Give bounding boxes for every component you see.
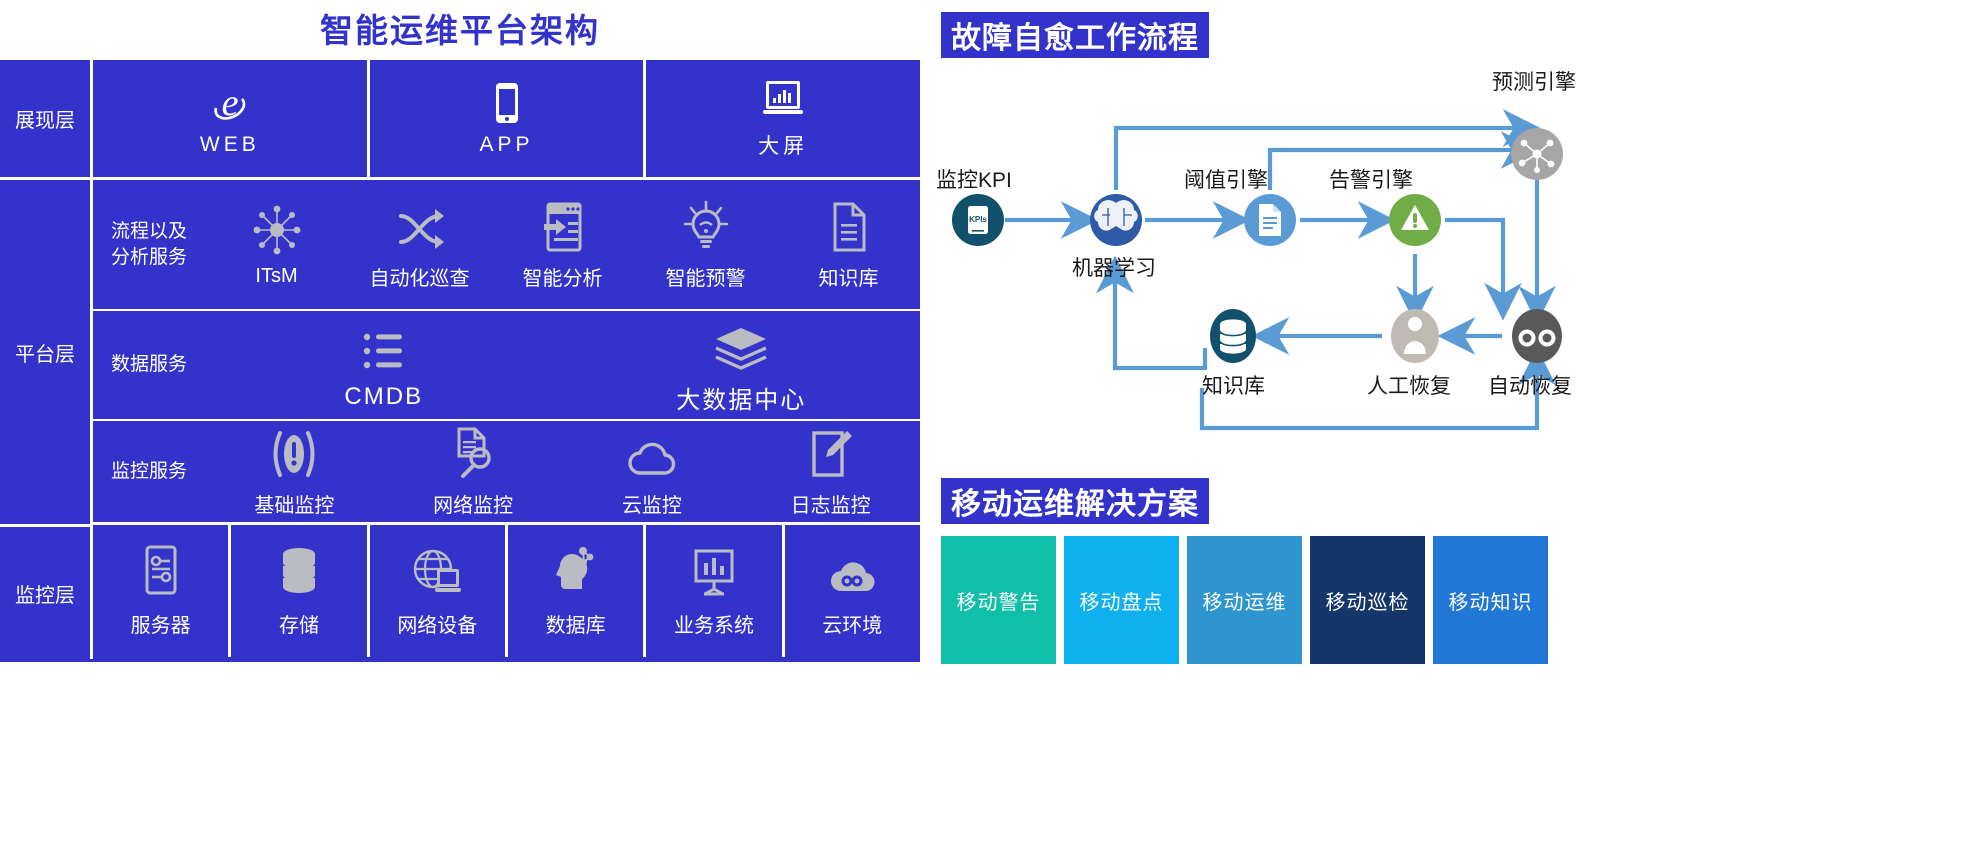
item-smart-analysis[interactable]: 智能分析 [491, 198, 634, 291]
poster-root: 智能运维平台架构 展现层 平台层 监控层 e WEB APP [0, 0, 1962, 845]
document-search-icon [449, 425, 497, 479]
item-auto-inspection[interactable]: 自动化巡查 [348, 198, 491, 291]
item-basic-monitor[interactable]: 基础监控 [205, 425, 384, 518]
brain-icon [1090, 194, 1142, 246]
bar-chart-board-icon [691, 545, 737, 597]
item-cloud-monitor[interactable]: 云监控 [563, 425, 742, 518]
item-knowledge-base[interactable]: 知识库 [777, 198, 920, 291]
shuffle-arrows-icon [395, 198, 445, 252]
data-service-items: CMDB 大数据中心 [205, 311, 920, 419]
monitor-layer-cell-network-device[interactable]: 网络设备 [370, 525, 508, 657]
mobile-tile-inventory[interactable]: 移动盘点 [1064, 536, 1179, 664]
layer-name-column: 展现层 平台层 监控层 [0, 60, 93, 662]
item-itsm[interactable]: ITsM [205, 201, 348, 288]
dashboard-screen-icon [760, 78, 806, 122]
flow-label-predict: 预测引擎 [1492, 66, 1576, 96]
item-label-basic-monitor: 基础监控 [254, 489, 334, 518]
knowledge-database-icon [1210, 309, 1256, 363]
data-service-row: 数据服务 CMDB 大数据中心 [93, 311, 920, 421]
mobile-title-banner: 移动运维解决方案 [941, 478, 1209, 524]
monitor-layer-cell-database[interactable]: 数据库 [508, 525, 646, 657]
monitor-layer-label-network-device: 网络设备 [397, 609, 477, 638]
list-icon [360, 319, 408, 373]
mobile-tile-label-inspection: 移动巡检 [1326, 586, 1410, 615]
presentation-row: e WEB APP 大屏 [93, 60, 920, 180]
layer-label-monitoring: 监控层 [0, 527, 93, 659]
layer-content-column: e WEB APP 大屏 [93, 60, 920, 662]
presentation-label-app: APP [479, 133, 533, 157]
process-analysis-row-label: 流程以及 分析服务 [93, 180, 205, 309]
process-analysis-items: ITsM 自动化巡查 智能分析 [205, 180, 920, 309]
item-smart-alert[interactable]: 智能预警 [634, 198, 777, 291]
monitor-service-row: 监控服务 基础监控 网络监控 [93, 421, 920, 525]
flow-label-kpi: 监控KPI [936, 164, 1012, 194]
architecture-table: 展现层 平台层 监控层 e WEB APP [0, 60, 920, 662]
presentation-label-bigscreen: 大屏 [758, 130, 808, 160]
item-cmdb[interactable]: CMDB [205, 319, 563, 411]
layer-label-presentation: 展现层 [0, 60, 93, 180]
kpi-tablet-icon: KPIs [952, 194, 1004, 246]
database-stack-icon [277, 545, 321, 597]
monitor-layer-label-database: 数据库 [546, 609, 606, 638]
globe-device-icon [411, 545, 463, 597]
monitor-layer-cell-cloud-env[interactable]: 云环境 [785, 525, 920, 657]
monitor-service-row-label: 监控服务 [93, 421, 205, 522]
warning-triangle-icon [1389, 194, 1441, 246]
flow-label-alarm: 告警引擎 [1329, 164, 1413, 194]
item-label-network-monitor: 网络监控 [433, 489, 513, 518]
cloud-icon [624, 425, 680, 479]
architecture-title: 智能运维平台架构 [0, 4, 920, 52]
item-bigdata-center[interactable]: 大数据中心 [563, 316, 921, 415]
mobile-tile-label-knowledge: 移动知识 [1449, 586, 1533, 615]
cloud-infinity-icon [825, 545, 879, 597]
monitor-layer-cell-business-system[interactable]: 业务系统 [646, 525, 784, 657]
monitor-layer-row: 服务器 存储 网络设备 [93, 525, 920, 657]
monitor-layer-label-cloud-env: 云环境 [822, 609, 882, 638]
data-service-row-label: 数据服务 [93, 311, 205, 419]
mobile-tile-label-ops: 移动运维 [1203, 586, 1287, 615]
flow-label-auto: 自动恢复 [1488, 370, 1572, 400]
item-log-monitor[interactable]: 日志监控 [741, 425, 920, 518]
svg-text:KPIs: KPIs [969, 215, 987, 224]
analysis-document-icon [540, 198, 586, 252]
item-label-log-monitor: 日志监控 [791, 489, 871, 518]
item-network-monitor[interactable]: 网络监控 [384, 425, 563, 518]
flow-label-ml: 机器学习 [1072, 252, 1156, 282]
presentation-cell-bigscreen[interactable]: 大屏 [646, 60, 920, 177]
item-label-cloud-monitor: 云监控 [622, 489, 682, 518]
predict-network-icon [1511, 128, 1563, 180]
mobile-tile-knowledge[interactable]: 移动知识 [1433, 536, 1548, 664]
warning-eye-icon [268, 425, 320, 479]
mobile-tiles: 移动警告 移动盘点 移动运维 移动巡检 移动知识 [941, 536, 1941, 836]
flow-diagram: KPIs [930, 58, 1962, 468]
threshold-document-icon [1244, 194, 1296, 246]
monitor-layer-label-business-system: 业务系统 [674, 609, 754, 638]
layer-label-platform: 平台层 [0, 180, 93, 527]
item-label-cmdb: CMDB [344, 383, 423, 411]
lightbulb-alert-icon [682, 198, 730, 252]
monitor-layer-cell-server[interactable]: 服务器 [93, 525, 231, 657]
monitor-layer-label-server: 服务器 [131, 609, 191, 638]
edit-note-icon [808, 425, 854, 479]
monitor-layer-label-storage: 存储 [279, 609, 319, 638]
process-analysis-row: 流程以及 分析服务 ITsM 自动化巡查 [93, 180, 920, 311]
brain-head-icon [554, 545, 598, 597]
process-analysis-label-line1: 流程以及 [111, 219, 187, 245]
item-label-smart-alert: 智能预警 [666, 262, 746, 291]
item-label-itsm: ITsM [255, 265, 297, 288]
mobile-tile-label-inventory: 移动盘点 [1080, 586, 1164, 615]
mobile-phone-icon [494, 81, 520, 125]
robot-icon [1512, 309, 1562, 363]
mobile-tile-ops[interactable]: 移动运维 [1187, 536, 1302, 664]
layers-stack-icon [713, 316, 769, 370]
internet-explorer-icon: e [210, 81, 250, 125]
item-label-knowledge-base: 知识库 [819, 262, 879, 291]
presentation-label-web: WEB [200, 133, 260, 157]
server-rack-icon [140, 545, 182, 597]
person-icon [1391, 309, 1439, 363]
flow-label-kb: 知识库 [1202, 370, 1265, 400]
item-label-auto-inspection: 自动化巡查 [370, 262, 470, 291]
item-label-bigdata-center: 大数据中心 [676, 380, 806, 415]
monitor-layer-cell-storage[interactable]: 存储 [231, 525, 369, 657]
mobile-tile-label-alert: 移动警告 [957, 586, 1041, 615]
process-analysis-label-line2: 分析服务 [111, 245, 187, 271]
item-label-smart-analysis: 智能分析 [523, 262, 603, 291]
flow-title-banner: 故障自愈工作流程 [941, 12, 1209, 58]
flow-label-manual: 人工恢复 [1367, 370, 1451, 400]
mobile-tile-alert[interactable]: 移动警告 [941, 536, 1056, 664]
monitor-service-items: 基础监控 网络监控 云监控 [205, 421, 920, 522]
mobile-tile-inspection[interactable]: 移动巡检 [1310, 536, 1425, 664]
presentation-cell-web[interactable]: e WEB [93, 60, 370, 177]
flow-label-threshold: 阈值引擎 [1184, 164, 1268, 194]
document-icon [830, 198, 868, 252]
network-nodes-icon [251, 201, 303, 255]
presentation-cell-app[interactable]: APP [370, 60, 647, 177]
